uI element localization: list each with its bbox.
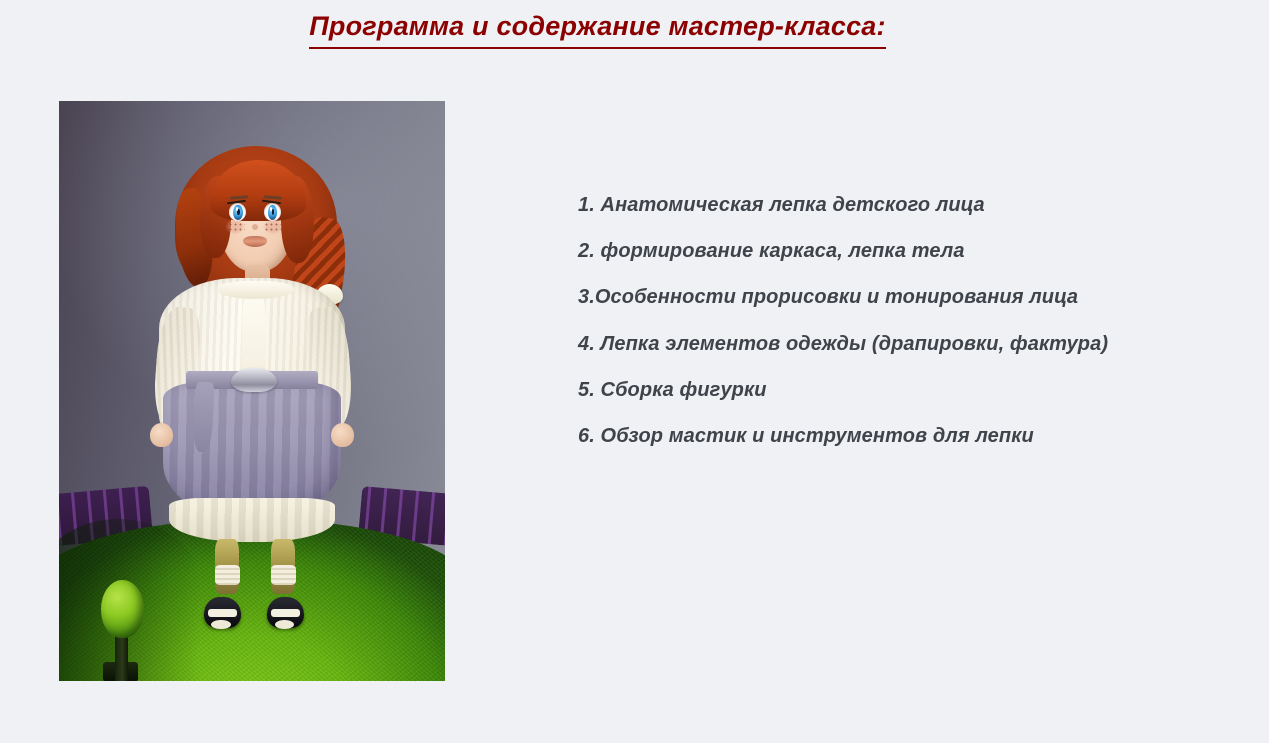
- sock-cuff-right: [271, 565, 296, 585]
- page-title: Программа и содержание мастер-класса:: [0, 10, 1195, 49]
- shoe-toe-cap-right: [275, 620, 294, 629]
- iris-left: [233, 205, 243, 220]
- doll-figurine: [59, 101, 445, 681]
- eye-left: [229, 203, 246, 221]
- program-item: 5. Сборка фигурки: [578, 377, 1138, 404]
- slide-page: Программа и содержание мастер-класса:: [0, 0, 1269, 743]
- shoe-toe-cap-left: [211, 620, 230, 629]
- program-item: 4. Лепка элементов одежды (драпировки, ф…: [578, 331, 1138, 358]
- freckles-left: [228, 222, 246, 234]
- shoe-strap-left: [208, 609, 237, 617]
- eye-right: [264, 203, 281, 221]
- sock-cuff-left: [215, 565, 240, 585]
- hand-right: [331, 423, 354, 447]
- program-item: 6. Обзор мастик и инструментов для лепки: [578, 423, 1138, 450]
- freckles-right: [264, 222, 282, 234]
- doll-photo: [59, 101, 445, 681]
- silver-bow: [231, 368, 277, 392]
- program-list: 1. Анатомическая лепка детского лица 2. …: [578, 192, 1138, 450]
- petticoat-underskirt: [169, 498, 335, 542]
- shoe-strap-right: [271, 609, 300, 617]
- lips: [243, 236, 267, 248]
- hand-left: [150, 423, 173, 447]
- eye-glint-left: [236, 207, 238, 211]
- program-item: 2. формирование каркаса, лепка тела: [578, 238, 1138, 265]
- pupil-right: [272, 209, 274, 215]
- program-item: 1. Анатомическая лепка детского лица: [578, 192, 1138, 219]
- page-title-text: Программа и содержание мастер-класса:: [309, 10, 885, 49]
- photo-backdrop: [59, 101, 445, 681]
- program-item: 3.Особенности прорисовки и тонирования л…: [578, 284, 1138, 311]
- iris-right: [268, 205, 278, 220]
